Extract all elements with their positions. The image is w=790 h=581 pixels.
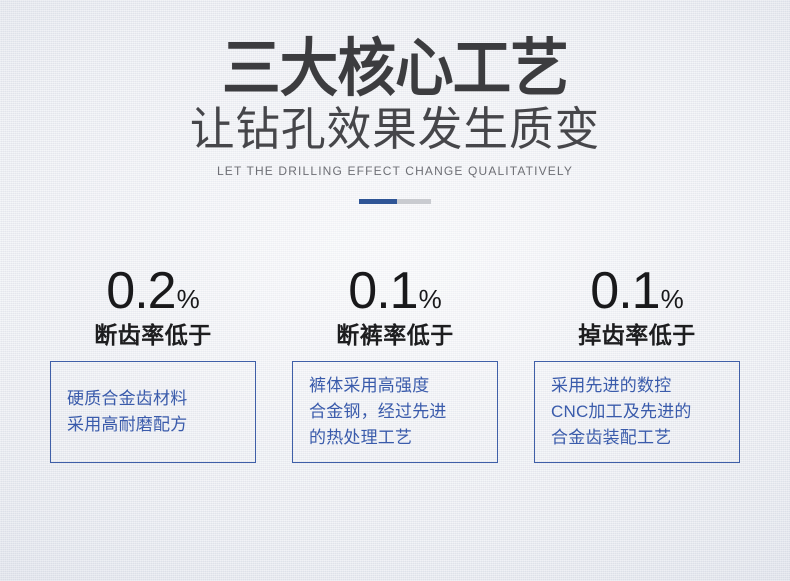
stat-detail-text: 裤体采用高强度 合金钢，经过先进 的热处理工艺 [309,373,447,451]
stat-value: 0.1 [590,262,659,320]
stat-unit: % [661,284,684,314]
stat-detail-box: 裤体采用高强度 合金钢，经过先进 的热处理工艺 [292,361,498,463]
stat-detail-box: 采用先进的数控 CNC加工及先进的 合金齿装配工艺 [534,361,740,463]
section-divider [359,199,431,204]
stat-number: 0.1% [590,262,683,320]
stat-label: 断裤率低于 [336,321,454,349]
stats-row: 0.2% 断齿率低于 硬质合金齿材料 采用高耐磨配方 0.1% 断裤率低于 裤体… [0,262,790,463]
stat-label: 掉齿率低于 [578,321,696,349]
stat-unit: % [177,284,200,314]
stat-number: 0.2% [106,262,199,320]
stat-value: 0.2 [106,262,175,320]
stat-detail-text: 硬质合金齿材料 采用高耐磨配方 [67,386,187,438]
stat-column-2: 0.1% 断裤率低于 裤体采用高强度 合金钢，经过先进 的热处理工艺 [292,262,498,463]
page-title: 三大核心工艺 [28,0,763,102]
page-subtitle: 让钻孔效果发生质变 [12,102,778,154]
stat-detail-text: 采用先进的数控 CNC加工及先进的 合金齿装配工艺 [551,373,692,451]
stat-label: 断齿率低于 [94,321,212,349]
promo-banner: 三大核心工艺 让钻孔效果发生质变 LET THE DRILLING EFFECT… [0,0,790,581]
stat-detail-box: 硬质合金齿材料 采用高耐磨配方 [50,361,256,463]
stat-unit: % [419,284,442,314]
divider-segment-gray [397,199,431,204]
stat-value: 0.1 [348,262,417,320]
stat-column-1: 0.2% 断齿率低于 硬质合金齿材料 采用高耐磨配方 [50,262,256,463]
banner-header: 三大核心工艺 让钻孔效果发生质变 LET THE DRILLING EFFECT… [0,0,790,204]
stat-column-3: 0.1% 掉齿率低于 采用先进的数控 CNC加工及先进的 合金齿装配工艺 [534,262,740,463]
divider-segment-blue [359,199,397,204]
stat-number: 0.1% [348,262,441,320]
page-subtitle-english: LET THE DRILLING EFFECT CHANGE QUALITATI… [0,154,790,179]
